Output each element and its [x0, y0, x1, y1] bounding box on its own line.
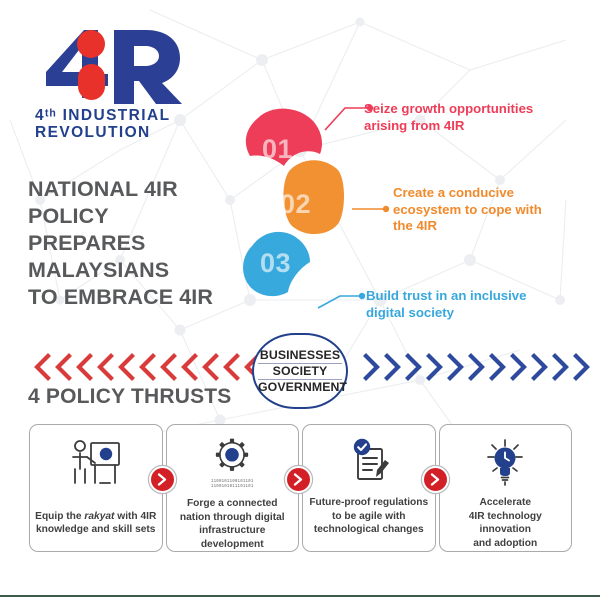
callout-build-trust: Build trust in an inclusive digital soci…	[366, 288, 566, 321]
chevron-left-icon	[158, 353, 179, 381]
callout-create-ecosystem: Create a conducive ecosystem to cope wit…	[393, 185, 573, 235]
4ir-logo-mark	[38, 24, 183, 104]
thrust-card-2[interactable]: 1100101100101101 1100101011101101 Forge …	[166, 424, 300, 552]
infographic-poster: 4ᵗʰ INDUSTRIAL REVOLUTION NATIONAL 4IR P…	[0, 0, 600, 597]
chevron-left-icon	[95, 353, 116, 381]
chevron-right-icon	[361, 353, 382, 381]
card-arrow-badge-3[interactable]	[422, 466, 449, 493]
chevron-row-left	[32, 352, 263, 382]
stakeholder-businesses: BUSINESSES	[258, 348, 342, 363]
thrust-card-4-label: Accelerate 4IR technology innovation and…	[443, 496, 567, 550]
gear-network-icon	[203, 437, 261, 479]
chevron-right-icon	[529, 353, 550, 381]
logo-block: 4ᵗʰ INDUSTRIAL REVOLUTION	[28, 24, 203, 149]
thrust-1-label-emphasis: rakyat	[84, 511, 114, 522]
thrust-card-2-label: Forge a connected nation through digital…	[170, 497, 294, 551]
chevron-right-icon	[487, 353, 508, 381]
chevron-left-icon	[221, 353, 242, 381]
thrust-1-label-pre: Equip the	[35, 511, 84, 522]
card-arrow-badge-1[interactable]	[149, 466, 176, 493]
chevron-right-icon	[382, 353, 403, 381]
callout-seize-growth: Seize growth opportunities arising from …	[364, 101, 569, 134]
binary-decoration: 1100101100101101 1100101011101101	[211, 480, 254, 490]
document-check-icon	[340, 437, 398, 489]
chevron-left-icon	[200, 353, 221, 381]
card-arrow-badge-2[interactable]	[285, 466, 312, 493]
segment-03-shape	[243, 232, 310, 296]
policy-objectives-graphic: 01 02 03	[228, 96, 358, 316]
stakeholders-circle: BUSINESSES SOCIETY GOVERNMENT	[252, 333, 348, 409]
chevron-left-icon	[137, 353, 158, 381]
chevron-right-icon	[571, 353, 592, 381]
segment-01-shape	[246, 109, 322, 166]
lightbulb-clock-icon	[476, 437, 534, 489]
chevron-right-icon	[550, 353, 571, 381]
policy-thrusts-heading: 4 POLICY THRUSTS	[28, 385, 232, 409]
chevron-right-icon	[508, 353, 529, 381]
logo-tagline: 4ᵗʰ INDUSTRIAL REVOLUTION	[35, 108, 203, 141]
chevron-left-icon	[179, 353, 200, 381]
chevron-left-icon	[53, 353, 74, 381]
segment-02-shape	[283, 160, 344, 234]
stakeholder-society: SOCIETY	[258, 363, 342, 379]
chevron-right-icon	[157, 473, 168, 486]
policy-thrust-cards: Equip the rakyat with 4IR knowledge and …	[29, 424, 572, 552]
presenter-board-icon	[67, 437, 125, 489]
chevron-left-icon	[74, 353, 95, 381]
chevron-left-icon	[116, 353, 137, 381]
thrust-card-3[interactable]: Future-proof regulations to be agile wit…	[302, 424, 436, 552]
chevron-right-icon	[430, 473, 441, 486]
thrust-card-1[interactable]: Equip the rakyat with 4IR knowledge and …	[29, 424, 163, 552]
thrust-card-4[interactable]: Accelerate 4IR technology innovation and…	[439, 424, 573, 552]
stakeholder-government: GOVERNMENT	[258, 379, 342, 395]
chevron-right-icon	[466, 353, 487, 381]
chevron-right-icon	[424, 353, 445, 381]
chevron-right-icon	[403, 353, 424, 381]
chevron-row-right	[361, 352, 592, 382]
thrust-card-1-label: Equip the rakyat with 4IR knowledge and …	[34, 496, 158, 537]
chevron-right-icon	[445, 353, 466, 381]
thrust-card-3-label: Future-proof regulations to be agile wit…	[307, 496, 431, 537]
chevron-left-icon	[32, 353, 53, 381]
chevron-right-icon	[293, 473, 304, 486]
